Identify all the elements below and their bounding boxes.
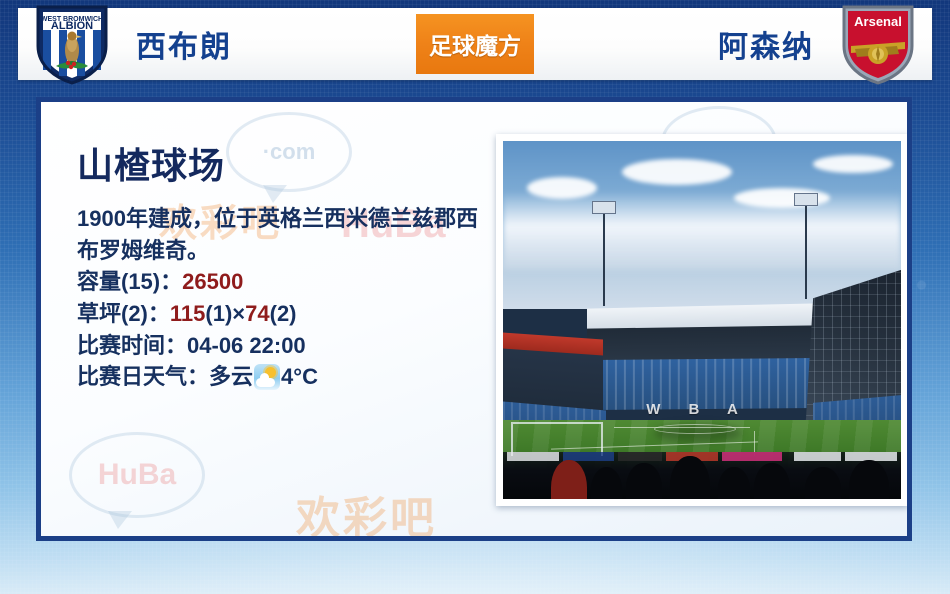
west-bromwich-albion-crest-icon: WEST BROMWICH ALBION xyxy=(32,2,112,86)
goal-frame xyxy=(511,422,603,456)
photo-cloud xyxy=(622,159,732,185)
weather-temperature: 4°C xyxy=(281,364,318,389)
match-time-label: 比赛时间： xyxy=(77,333,187,358)
spectator-silhouette xyxy=(754,463,790,499)
svg-text:ALBION: ALBION xyxy=(51,20,93,32)
watermark-cloud-huanba: HuBa xyxy=(69,432,205,518)
stadium-photo: W B A xyxy=(503,141,901,499)
arsenal-crest-icon: Arsenal xyxy=(839,2,917,86)
advert-board xyxy=(722,452,782,461)
capacity-label: 容量(15)： xyxy=(77,269,182,294)
stadium-info-card: ·com ·com HuBa HuBa 欢彩吧 欢彩吧 山楂球场 1900年建成… xyxy=(36,97,912,541)
svg-text:Arsenal: Arsenal xyxy=(854,14,902,29)
advert-board xyxy=(507,452,559,461)
watermark-huancaiba: 欢彩吧 xyxy=(296,482,437,541)
floodlight-pylon-right xyxy=(805,205,807,298)
home-team-name: 西布朗 xyxy=(126,22,242,66)
advert-board xyxy=(618,452,662,461)
stadium-info-block: 山楂球场 1900年建成，位于英格兰西米德兰兹郡西布罗姆维奇。 容量(15)：2… xyxy=(77,137,497,393)
weather-condition: 多云 xyxy=(209,364,253,389)
match-header-bar: WEST BROMWICH ALBION 西布朗 足球魔方 阿森纳 xyxy=(18,8,932,80)
stadium-description: 1900年建成，位于英格兰西米德兰兹郡西布罗姆维奇。 xyxy=(77,203,497,266)
pitch-width-value: 74 xyxy=(245,301,269,326)
weather-line: 比赛日天气：多云4°C xyxy=(77,361,497,393)
advert-board xyxy=(794,452,842,461)
home-team-crest[interactable]: WEST BROMWICH ALBION xyxy=(18,1,126,87)
pitch-length-rank: (1) xyxy=(205,301,232,326)
pitch-length-value: 115 xyxy=(170,301,206,326)
stadium-photo-frame[interactable]: W B A xyxy=(496,134,908,506)
sun-behind-cloud-icon xyxy=(254,364,280,390)
pitch-label: 草坪(2)： xyxy=(77,301,170,326)
pitch-width-rank: (2) xyxy=(270,301,297,326)
floodlight-pylon-left xyxy=(603,213,605,306)
away-team-name: 阿森纳 xyxy=(708,22,824,66)
capacity-value: 26500 xyxy=(182,269,243,294)
site-logo-text: 足球魔方 xyxy=(429,27,521,61)
match-time-line: 比赛时间：04-06 22:00 xyxy=(77,330,497,362)
capacity-line: 容量(15)：26500 xyxy=(77,266,497,298)
match-info-screen: WEST BROMWICH ALBION 西布朗 足球魔方 阿森纳 xyxy=(0,0,950,594)
away-team-crest[interactable]: Arsenal xyxy=(824,1,932,87)
photo-cloud xyxy=(527,177,597,199)
pitch-size-line: 草坪(2)：115(1)×74(2) xyxy=(77,298,497,330)
pitch-size-separator: × xyxy=(232,301,245,326)
pitch-centre-circle xyxy=(654,424,736,434)
stadium-title: 山楂球场 xyxy=(77,137,497,189)
weather-label: 比赛日天气： xyxy=(77,364,209,389)
match-time-value: 04-06 22:00 xyxy=(187,333,306,358)
wba-seat-lettering: W B A xyxy=(591,401,806,418)
photo-cloud-band xyxy=(503,191,901,270)
site-logo[interactable]: 足球魔方 xyxy=(416,14,534,74)
